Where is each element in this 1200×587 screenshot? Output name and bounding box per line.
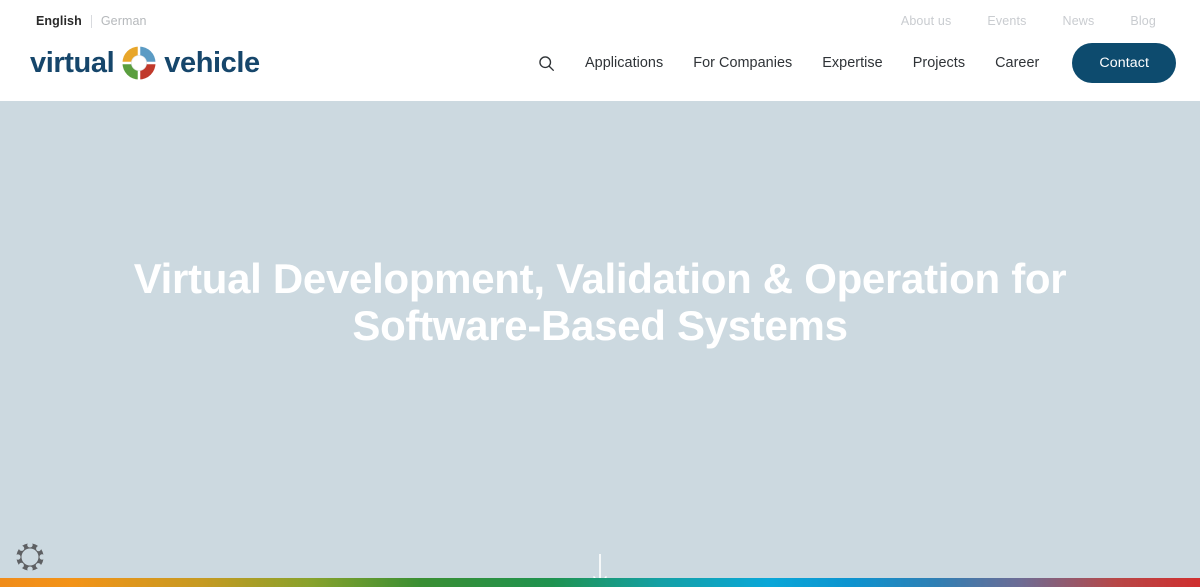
utility-nav-item-about-us[interactable]: About us — [901, 14, 952, 28]
logo-word-virtual: virtual — [30, 49, 114, 78]
rainbow-gradient-bar — [0, 578, 1200, 587]
site-header: English German About us Events News Blog… — [0, 0, 1200, 101]
nav-item-projects[interactable]: Projects — [898, 47, 980, 79]
language-option-german[interactable]: German — [101, 15, 147, 28]
header-main-row: virtual — [0, 32, 1200, 94]
logo-word-vehicle: vehicle — [164, 49, 260, 78]
utility-nav-item-news[interactable]: News — [1063, 14, 1095, 28]
page-root: English German About us Events News Blog… — [0, 0, 1200, 587]
language-divider — [91, 15, 92, 28]
utility-nav-item-blog[interactable]: Blog — [1130, 14, 1156, 28]
search-button[interactable] — [531, 48, 561, 78]
language-option-english[interactable]: English — [36, 15, 82, 28]
hero-title: Virtual Development, Validation & Operat… — [0, 256, 1200, 350]
utility-nav: About us Events News Blog — [901, 14, 1170, 28]
hero-section: Virtual Development, Validation & Operat… — [0, 101, 1200, 587]
nav-item-career[interactable]: Career — [980, 47, 1054, 79]
cookie-settings-button[interactable] — [14, 541, 46, 573]
language-switcher[interactable]: English German — [36, 15, 147, 28]
utility-nav-item-events[interactable]: Events — [987, 14, 1026, 28]
nav-item-for-companies[interactable]: For Companies — [678, 47, 807, 79]
pinwheel-donut-icon — [121, 45, 157, 81]
search-icon — [538, 55, 555, 72]
site-logo[interactable]: virtual — [30, 45, 260, 81]
cookie-settings-icon — [14, 541, 46, 573]
contact-button[interactable]: Contact — [1072, 43, 1176, 83]
nav-item-expertise[interactable]: Expertise — [807, 47, 897, 79]
primary-nav: Applications For Companies Expertise Pro… — [531, 43, 1176, 83]
nav-item-applications[interactable]: Applications — [570, 47, 678, 79]
